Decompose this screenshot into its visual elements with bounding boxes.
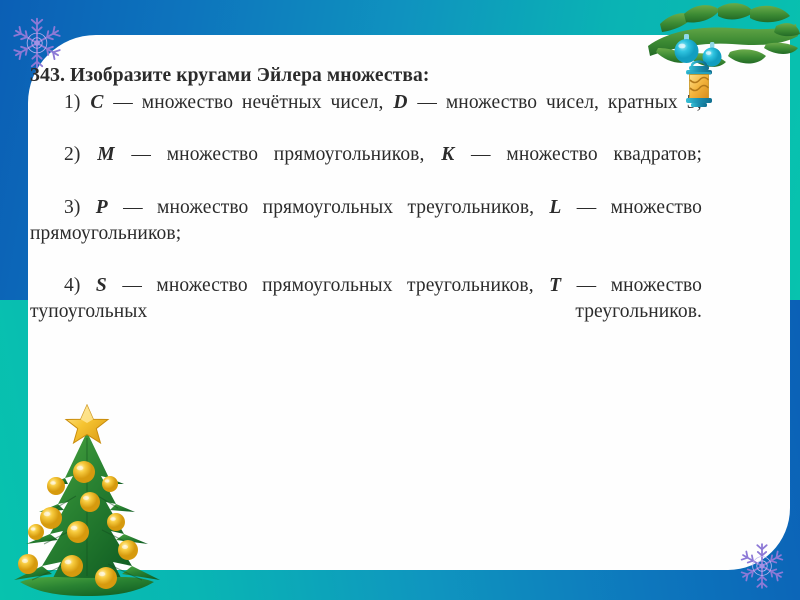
task-item-2-var-b: K: [440, 144, 455, 165]
task-item-2-var-a: M: [96, 144, 115, 165]
task-heading: Изобразите кругами Эйлера множества:: [70, 65, 429, 86]
task-item-2-marker: 2): [64, 142, 80, 168]
task-item-4: 4) S — множество прямоугольных треугольн…: [30, 273, 702, 351]
task-item-1: 1) C — множество нечётных чисел, D — мно…: [30, 90, 702, 142]
task-item-4-text-a: — множество прямоугольных треугольников,: [108, 275, 548, 296]
task-item-4-var-b: T: [548, 275, 562, 296]
task-item-3-var-a: P: [95, 197, 109, 218]
task-item-4-marker: 4): [64, 273, 80, 299]
task-text-block: 343. Изобразите кругами Эйлера множества…: [30, 62, 702, 351]
task-item-1-text-a: — множество нечётных чисел,: [104, 92, 392, 113]
task-item-1-var-b: D: [392, 92, 408, 113]
task-item-3-var-b: L: [548, 197, 562, 218]
task-item-4-var-a: S: [95, 275, 108, 296]
task-item-3: 3) P — множество прямоугольных треугольн…: [30, 195, 702, 273]
task-item-2-text-b: — множество квадратов;: [455, 144, 702, 165]
task-item-2-text-a: — множество прямоугольников,: [116, 144, 441, 165]
task-item-3-text-a: — множество прямоугольных треугольников,: [109, 197, 549, 218]
task-item-1-text-b: — множество чисел, кратных 5;: [409, 92, 702, 113]
task-number: 343.: [30, 64, 65, 86]
task-item-1-var-a: C: [89, 92, 104, 113]
task-item-2: 2) M — множество прямоугольников, K — мн…: [30, 142, 702, 194]
task-item-1-marker: 1): [64, 90, 80, 116]
task-item-3-marker: 3): [64, 195, 80, 221]
slide-canvas: 343. Изобразите кругами Эйлера множества…: [0, 0, 800, 600]
task-heading-line: 343. Изобразите кругами Эйлера множества…: [30, 62, 702, 89]
